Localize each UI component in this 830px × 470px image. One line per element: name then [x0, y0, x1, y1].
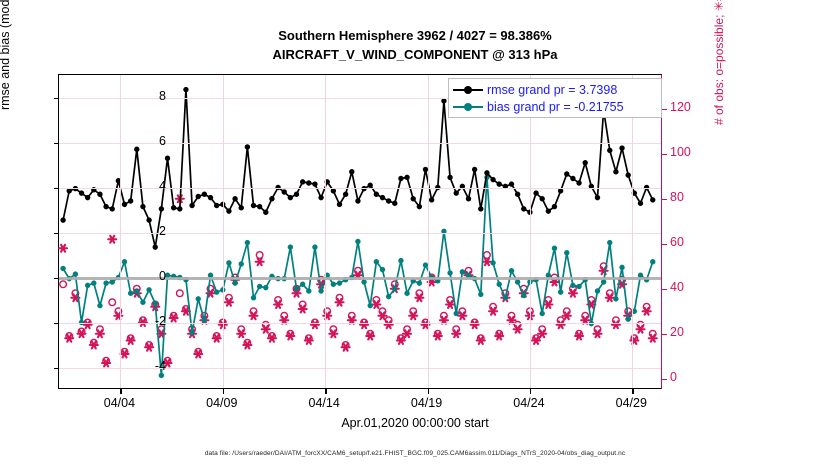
rmse-marker	[558, 188, 563, 193]
rmse-marker	[189, 203, 194, 208]
x-tick-label: 04/09	[187, 396, 257, 410]
y-axis-label-right: # of obs: o=possible; ✳=assimilated	[712, 0, 726, 125]
y-tick-label-right: 120	[670, 100, 710, 114]
bias-marker	[103, 280, 108, 285]
rmse-marker	[257, 204, 262, 209]
y-tick-mark-left	[54, 188, 59, 189]
bias-marker	[460, 269, 465, 274]
rmse-marker	[552, 204, 557, 209]
bias-marker	[245, 240, 250, 245]
bias-marker	[392, 286, 397, 291]
bias-marker	[337, 280, 342, 285]
rmse-marker	[165, 156, 170, 161]
y-tick-label-left: 0	[126, 269, 166, 283]
rmse-marker	[337, 202, 342, 207]
rmse-marker	[300, 179, 305, 184]
rmse-marker	[97, 192, 102, 197]
bias-marker	[564, 250, 569, 255]
bias-marker	[257, 284, 262, 289]
rmse-marker	[533, 190, 538, 195]
rmse-marker	[570, 176, 575, 181]
bias-marker	[509, 268, 514, 273]
rmse-marker	[484, 170, 489, 175]
legend: rmse grand pr = 3.7398bias grand pr = -0…	[448, 78, 662, 118]
rmse-marker	[140, 204, 145, 209]
rmse-marker	[411, 196, 416, 201]
bias-marker	[239, 261, 244, 266]
bias-marker	[251, 295, 256, 300]
page-title: Southern Hemisphere 3962 / 4027 = 98.386…	[0, 26, 830, 64]
rmse-marker	[515, 192, 520, 197]
rmse-marker	[153, 244, 158, 249]
bias-marker	[398, 258, 403, 263]
rmse-marker	[208, 195, 213, 200]
bias-marker	[288, 244, 293, 249]
rmse-marker	[79, 190, 84, 195]
bias-marker	[122, 259, 127, 264]
rmse-marker	[380, 195, 385, 200]
y-tick-mark-right	[661, 379, 667, 380]
rmse-marker	[583, 160, 588, 165]
bias-marker	[552, 246, 557, 251]
rmse-marker	[288, 195, 293, 200]
bias-marker	[355, 239, 360, 244]
rmse-marker	[171, 205, 176, 210]
rmse-marker	[294, 192, 299, 197]
rmse-marker	[429, 197, 434, 202]
rmse-marker	[226, 208, 231, 213]
bias-marker	[374, 259, 379, 264]
y-tick-label-left: -2	[126, 314, 166, 328]
x-tick-mark	[632, 388, 633, 394]
bias-marker	[140, 300, 145, 305]
rmse-marker	[466, 196, 471, 201]
rmse-marker	[196, 194, 201, 199]
y-tick-mark-right	[661, 154, 667, 155]
rmse-marker	[183, 87, 188, 92]
obs-possible-marker	[109, 299, 116, 306]
y-tick-mark-left	[54, 143, 59, 144]
rmse-marker	[343, 192, 348, 197]
rmse-marker	[214, 203, 219, 208]
plot-page: Southern Hemisphere 3962 / 4027 = 98.386…	[0, 0, 830, 470]
rmse-marker	[386, 198, 391, 203]
rmse-marker	[312, 181, 317, 186]
bias-marker	[558, 289, 563, 294]
bias-marker	[601, 279, 606, 284]
rmse-marker	[546, 208, 551, 213]
bias-marker	[128, 291, 133, 296]
rmse-marker	[331, 188, 336, 193]
bias-marker	[478, 292, 483, 297]
rmse-marker	[441, 98, 446, 103]
rmse-marker	[454, 190, 459, 195]
rmse-marker	[67, 188, 72, 193]
bias-marker	[312, 244, 317, 249]
rmse-marker	[595, 195, 600, 200]
bias-marker	[447, 270, 452, 275]
bias-marker	[521, 293, 526, 298]
bias-marker	[263, 285, 268, 290]
gridline-vertical	[632, 75, 633, 388]
y-tick-mark-left	[54, 233, 59, 234]
rmse-marker	[60, 217, 65, 222]
rmse-marker	[251, 203, 256, 208]
rmse-marker	[202, 192, 207, 197]
x-tick-mark	[120, 388, 121, 394]
bias-marker	[417, 280, 422, 285]
rmse-marker	[263, 210, 268, 215]
rmse-marker	[349, 169, 354, 174]
data-file-footer: data file: /Users/raeder/DAI/ATM_forcXX/…	[0, 450, 830, 457]
bias-marker	[570, 283, 575, 288]
y-tick-label-right: 0	[670, 370, 710, 384]
rmse-marker	[607, 148, 612, 153]
rmse-marker	[540, 196, 545, 201]
bias-marker	[540, 311, 545, 316]
y-tick-label-right: 80	[670, 190, 710, 204]
bias-marker	[607, 240, 612, 245]
rmse-marker	[318, 195, 323, 200]
rmse-marker	[239, 205, 244, 210]
y-tick-label-left: -4	[126, 359, 166, 373]
bias-marker	[650, 259, 655, 264]
rmse-marker	[638, 201, 643, 206]
rmse-marker	[490, 177, 495, 182]
y-tick-label-right: 20	[670, 325, 710, 339]
bias-marker	[503, 295, 508, 300]
rmse-marker	[404, 175, 409, 180]
bias-marker	[613, 296, 618, 301]
bias-marker	[380, 267, 385, 272]
rmse-marker	[110, 206, 115, 211]
y-tick-label-left: 6	[126, 134, 166, 148]
y-tick-mark-right	[661, 334, 667, 335]
obs-assimilated-marker	[483, 258, 491, 265]
bias-marker	[368, 303, 373, 308]
y-tick-mark-right	[661, 289, 667, 290]
bias-marker	[576, 284, 581, 289]
bias-marker	[91, 280, 96, 285]
rmse-marker	[472, 167, 477, 172]
rmse-marker	[447, 175, 452, 180]
gridline-vertical	[530, 75, 531, 388]
y-axis-label-left: rmse and bias (model - observation)	[0, 0, 12, 130]
y-tick-label-left: 4	[126, 179, 166, 193]
rmse-marker	[282, 189, 287, 194]
gridline-vertical	[428, 75, 429, 388]
x-tick-label: 04/19	[392, 396, 462, 410]
bias-marker	[134, 288, 139, 293]
rmse-marker	[392, 201, 397, 206]
bias-marker	[595, 288, 600, 293]
title-line-2: AIRCRAFT_V_WIND_COMPONENT @ 313 hPa	[0, 45, 830, 64]
obs-assimilated-marker	[59, 245, 67, 252]
bias-marker	[85, 283, 90, 288]
legend-swatch-bias-icon	[453, 101, 483, 113]
rmse-marker	[177, 206, 182, 211]
x-tick-label: 04/14	[289, 396, 359, 410]
bias-marker	[226, 260, 231, 265]
bias-marker	[497, 282, 502, 287]
rmse-marker	[159, 206, 164, 211]
bias-marker	[110, 279, 115, 284]
x-tick-label: 04/29	[596, 396, 666, 410]
rmse-marker	[128, 198, 133, 203]
y-tick-mark-left	[54, 323, 59, 324]
rmse-marker	[509, 181, 514, 186]
rmse-marker	[355, 198, 360, 203]
rmse-marker	[306, 180, 311, 185]
gridline-vertical	[120, 75, 121, 388]
y-tick-label-left: 2	[126, 224, 166, 238]
x-axis-label: Apr.01,2020 00:00:00 start	[0, 416, 830, 430]
x-tick-label: 04/24	[494, 396, 564, 410]
y-tick-mark-right	[661, 244, 667, 245]
gridline-vertical	[325, 75, 326, 388]
y-tick-mark-left	[54, 98, 59, 99]
rmse-marker	[478, 206, 483, 211]
y-tick-label-right: 100	[670, 145, 710, 159]
rmse-marker	[613, 169, 618, 174]
bias-marker	[404, 291, 409, 296]
bias-marker	[196, 296, 201, 301]
bias-marker	[232, 280, 237, 285]
rmse-marker	[232, 196, 237, 201]
y-tick-label-left: 8	[126, 89, 166, 103]
bias-marker	[619, 265, 624, 270]
y-tick-label-right: 60	[670, 235, 710, 249]
rmse-marker	[245, 144, 250, 149]
gridline-vertical	[223, 75, 224, 388]
y-tick-mark-left	[54, 368, 59, 369]
legend-swatch-rmse-icon	[453, 84, 483, 96]
bias-marker	[97, 303, 102, 308]
obs-assimilated-marker	[256, 258, 264, 265]
bias-marker	[318, 288, 323, 293]
legend-label: rmse grand pr = 3.7398	[487, 83, 617, 97]
rmse-marker	[146, 217, 151, 222]
title-line-1: Southern Hemisphere 3962 / 4027 = 98.386…	[0, 26, 830, 45]
bias-marker	[214, 289, 219, 294]
legend-item-rmse[interactable]: rmse grand pr = 3.7398	[453, 81, 657, 98]
legend-label: bias grand pr = -0.21755	[487, 100, 624, 114]
rmse-marker	[521, 206, 526, 211]
bias-marker	[300, 282, 305, 287]
bias-marker	[153, 301, 158, 306]
rmse-marker	[564, 171, 569, 176]
obs-possible-marker	[60, 281, 67, 288]
y-tick-mark-right	[661, 199, 667, 200]
rmse-marker	[122, 202, 127, 207]
rmse-marker	[619, 145, 624, 150]
rmse-marker	[103, 204, 108, 209]
legend-item-bias[interactable]: bias grand pr = -0.21755	[453, 98, 657, 115]
x-tick-mark	[325, 388, 326, 394]
x-tick-mark	[223, 388, 224, 394]
bias-marker	[306, 288, 311, 293]
bias-marker	[625, 316, 630, 321]
bias-marker	[361, 279, 366, 284]
obs-possible-marker	[177, 290, 184, 297]
rmse-marker	[417, 204, 422, 209]
bias-marker	[490, 260, 495, 265]
bias-marker	[386, 294, 391, 299]
y-tick-label-right: 40	[670, 280, 710, 294]
bias-marker	[60, 266, 65, 271]
rmse-marker	[269, 196, 274, 201]
obs-assimilated-marker	[108, 236, 116, 243]
rmse-marker	[650, 197, 655, 202]
bias-marker	[146, 287, 151, 292]
bias-marker	[294, 286, 299, 291]
rmse-marker	[398, 176, 403, 181]
x-tick-label: 04/04	[84, 396, 154, 410]
rmse-marker	[497, 181, 502, 186]
bias-marker	[515, 279, 520, 284]
rmse-marker	[85, 195, 90, 200]
x-tick-mark	[428, 388, 429, 394]
bias-marker	[454, 311, 459, 316]
rmse-marker	[576, 180, 581, 185]
bias-marker	[159, 373, 164, 378]
rmse-marker	[625, 172, 630, 177]
bias-marker	[331, 282, 336, 287]
bias-marker	[189, 330, 194, 335]
rmse-marker	[374, 192, 379, 197]
x-tick-mark	[530, 388, 531, 394]
